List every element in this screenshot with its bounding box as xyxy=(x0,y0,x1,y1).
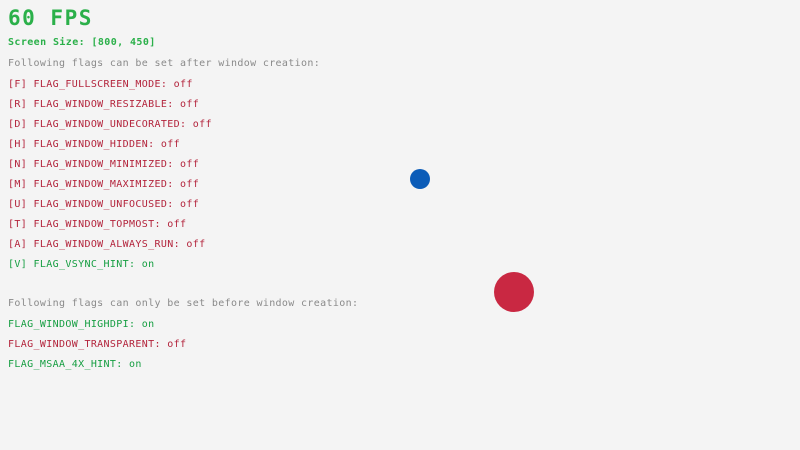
raylib-window-flags-demo: 60 FPS Screen Size: [800, 450] Following… xyxy=(0,0,800,450)
red-ball xyxy=(494,272,534,312)
flag-row-flag-msaa-4x-hint[interactable]: FLAG_MSAA_4X_HINT: on xyxy=(8,359,142,371)
flag-row-flag-window-maximized[interactable]: [M] FLAG_WINDOW_MAXIMIZED: off xyxy=(8,179,199,191)
flag-row-flag-window-unfocused[interactable]: [U] FLAG_WINDOW_UNFOCUSED: off xyxy=(8,199,199,211)
flag-row-flag-window-undecorated[interactable]: [D] FLAG_WINDOW_UNDECORATED: off xyxy=(8,119,212,131)
flag-row-flag-window-resizable[interactable]: [R] FLAG_WINDOW_RESIZABLE: off xyxy=(8,99,199,111)
flag-row-flag-window-always-run[interactable]: [A] FLAG_WINDOW_ALWAYS_RUN: off xyxy=(8,239,206,251)
flag-row-flag-window-topmost[interactable]: [T] FLAG_WINDOW_TOPMOST: off xyxy=(8,219,186,231)
fps-counter: 60 FPS xyxy=(8,5,93,31)
flag-row-flag-window-hidden[interactable]: [H] FLAG_WINDOW_HIDDEN: off xyxy=(8,139,180,151)
blue-ball xyxy=(410,169,430,189)
flag-row-flag-fullscreen-mode[interactable]: [F] FLAG_FULLSCREEN_MODE: off xyxy=(8,79,193,91)
screen-size-label: Screen Size: [800, 450] xyxy=(8,37,156,49)
runtime-flags-heading: Following flags can be set after window … xyxy=(8,58,320,70)
flag-row-flag-vsync-hint[interactable]: [V] FLAG_VSYNC_HINT: on xyxy=(8,259,155,271)
flag-row-flag-window-minimized[interactable]: [N] FLAG_WINDOW_MINIMIZED: off xyxy=(8,159,199,171)
creation-flags-heading: Following flags can only be set before w… xyxy=(8,298,358,310)
flag-row-flag-window-transparent[interactable]: FLAG_WINDOW_TRANSPARENT: off xyxy=(8,339,186,351)
flag-row-flag-window-highdpi[interactable]: FLAG_WINDOW_HIGHDPI: on xyxy=(8,319,155,331)
